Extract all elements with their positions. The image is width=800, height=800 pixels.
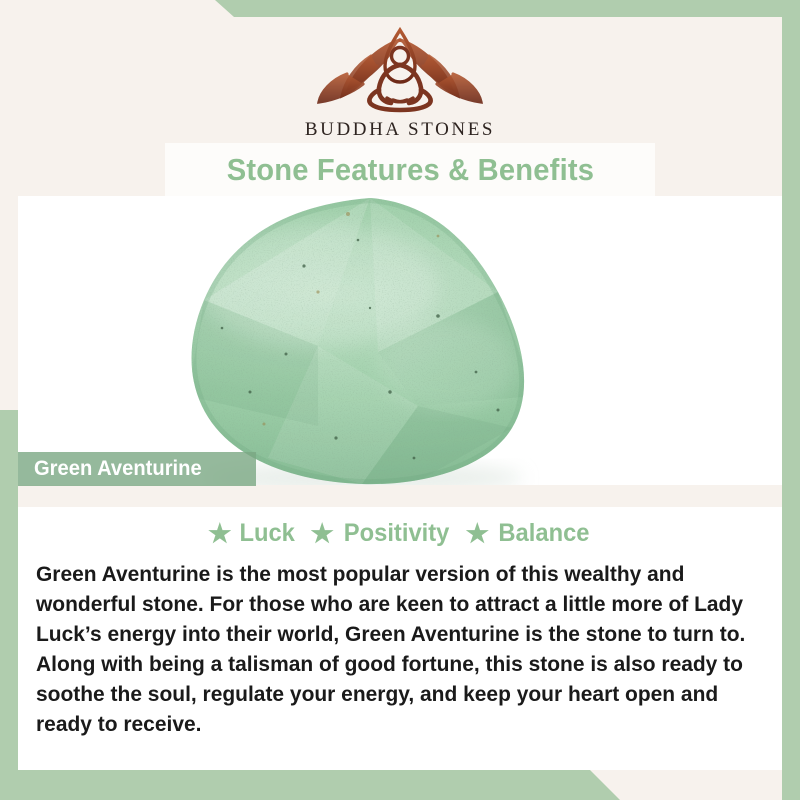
star-icon bbox=[311, 522, 334, 545]
header: BUDDHA STONES bbox=[0, 0, 800, 143]
stone-name-text: Green Aventurine bbox=[34, 457, 202, 481]
brand-logo: BUDDHA STONES bbox=[240, 22, 560, 141]
frame-left-band bbox=[0, 410, 18, 800]
benefit-item: Balance bbox=[466, 519, 592, 548]
benefit-item: Luck bbox=[208, 519, 296, 548]
frame-bottom-band bbox=[0, 770, 620, 800]
star-icon bbox=[466, 522, 489, 545]
star-icon bbox=[208, 522, 231, 545]
stone-photo bbox=[18, 196, 782, 485]
infographic-page: BUDDHA STONES Stone Features & Benefits bbox=[0, 0, 800, 800]
page-title: Stone Features & Benefits bbox=[226, 152, 593, 188]
benefits-row: Luck Positivity Balance bbox=[18, 519, 782, 548]
lotus-meditation-figure-icon bbox=[305, 22, 495, 117]
content-panel: Luck Positivity Balance Green Aventurine… bbox=[18, 507, 782, 770]
benefit-label: Balance bbox=[498, 519, 589, 548]
green-aventurine-stone-image bbox=[18, 196, 782, 485]
divider-strip bbox=[18, 485, 782, 507]
brand-name: BUDDHA STONES bbox=[240, 119, 560, 141]
title-banner: Stone Features & Benefits bbox=[165, 143, 655, 196]
benefit-label: Luck bbox=[240, 519, 295, 548]
stone-name-label: Green Aventurine bbox=[18, 452, 256, 486]
benefit-item: Positivity bbox=[311, 519, 452, 548]
description-paragraph: Green Aventurine is the most popular ver… bbox=[36, 559, 746, 740]
benefit-label: Positivity bbox=[343, 519, 449, 548]
